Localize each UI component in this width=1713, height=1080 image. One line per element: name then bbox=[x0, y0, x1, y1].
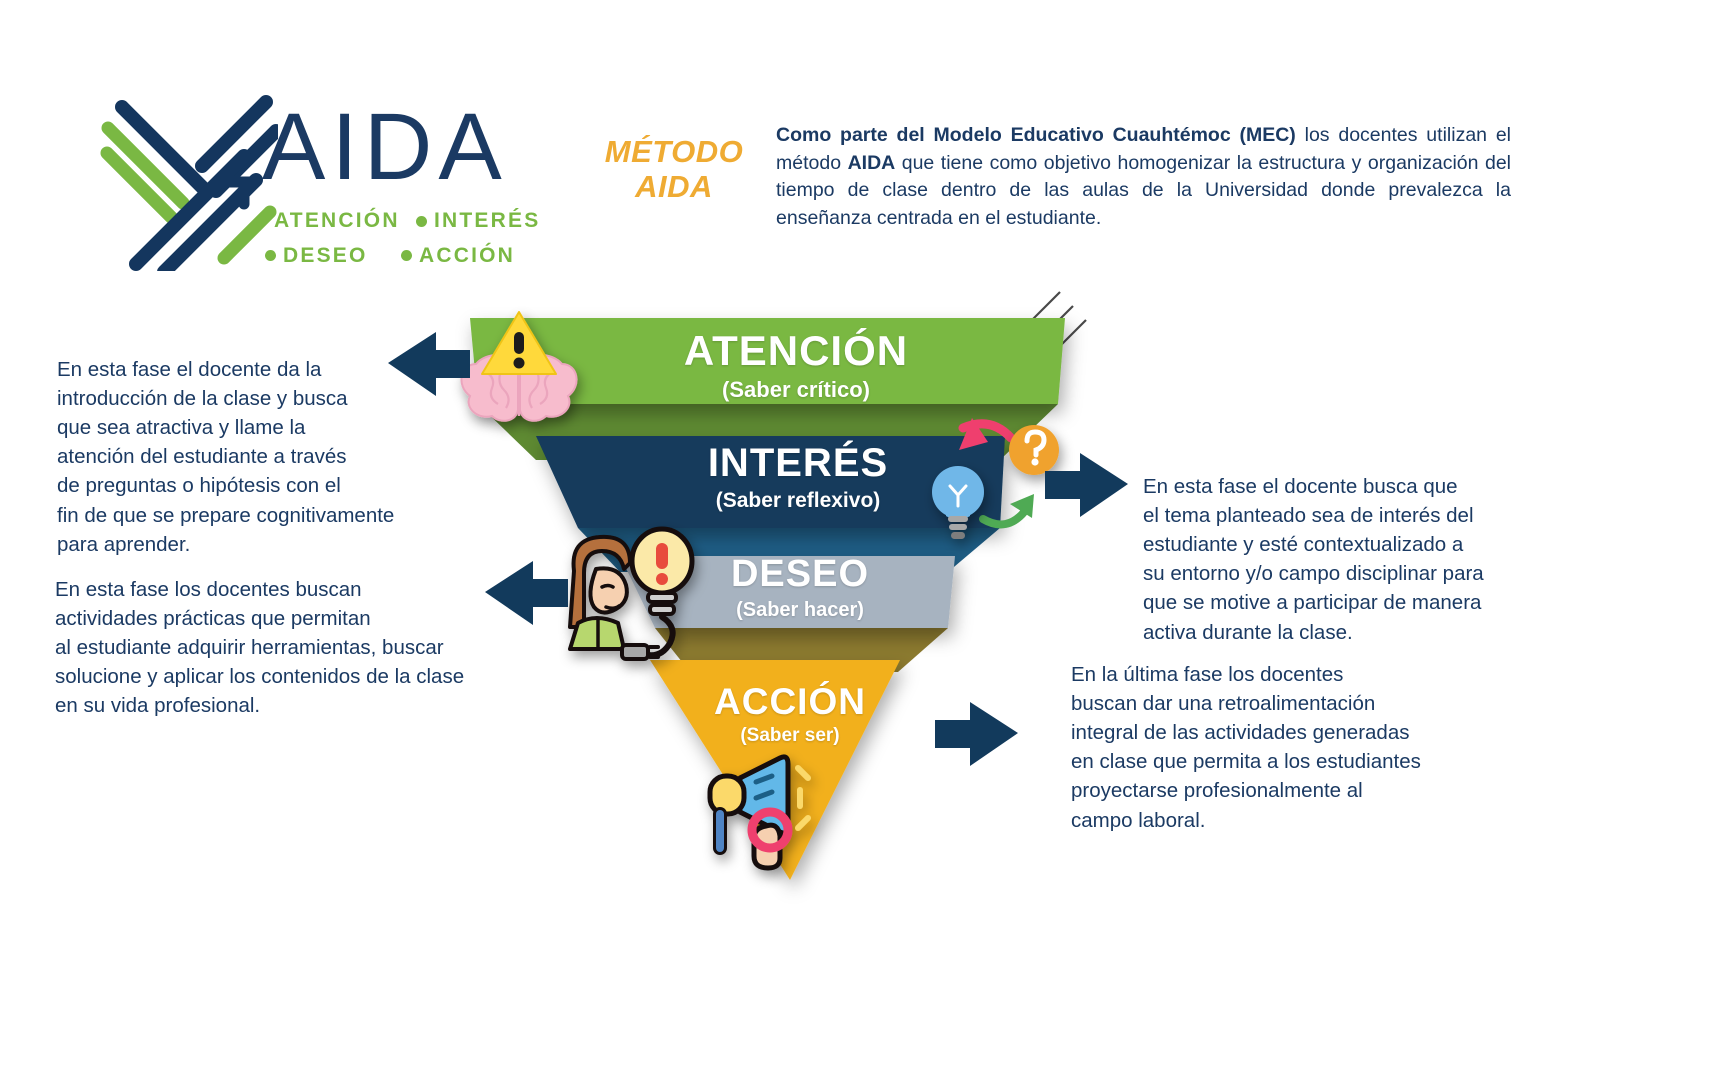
description-interes: En esta fase el docente busca que el tem… bbox=[1143, 472, 1543, 647]
arrow-interes-right bbox=[1045, 453, 1128, 517]
question-mark-icon bbox=[1009, 425, 1059, 475]
description-atencion: En esta fase el docente da la introducci… bbox=[57, 355, 457, 559]
arrow-accion-right bbox=[935, 702, 1018, 766]
infographic-canvas: AIDA ATENCIÓN INTERÉS DESEO ACCIÓN MÉTOD… bbox=[0, 0, 1713, 1080]
description-deseo: En esta fase los docentes buscan activid… bbox=[55, 575, 515, 721]
description-accion: En la última fase los docentes buscan da… bbox=[1071, 660, 1471, 835]
